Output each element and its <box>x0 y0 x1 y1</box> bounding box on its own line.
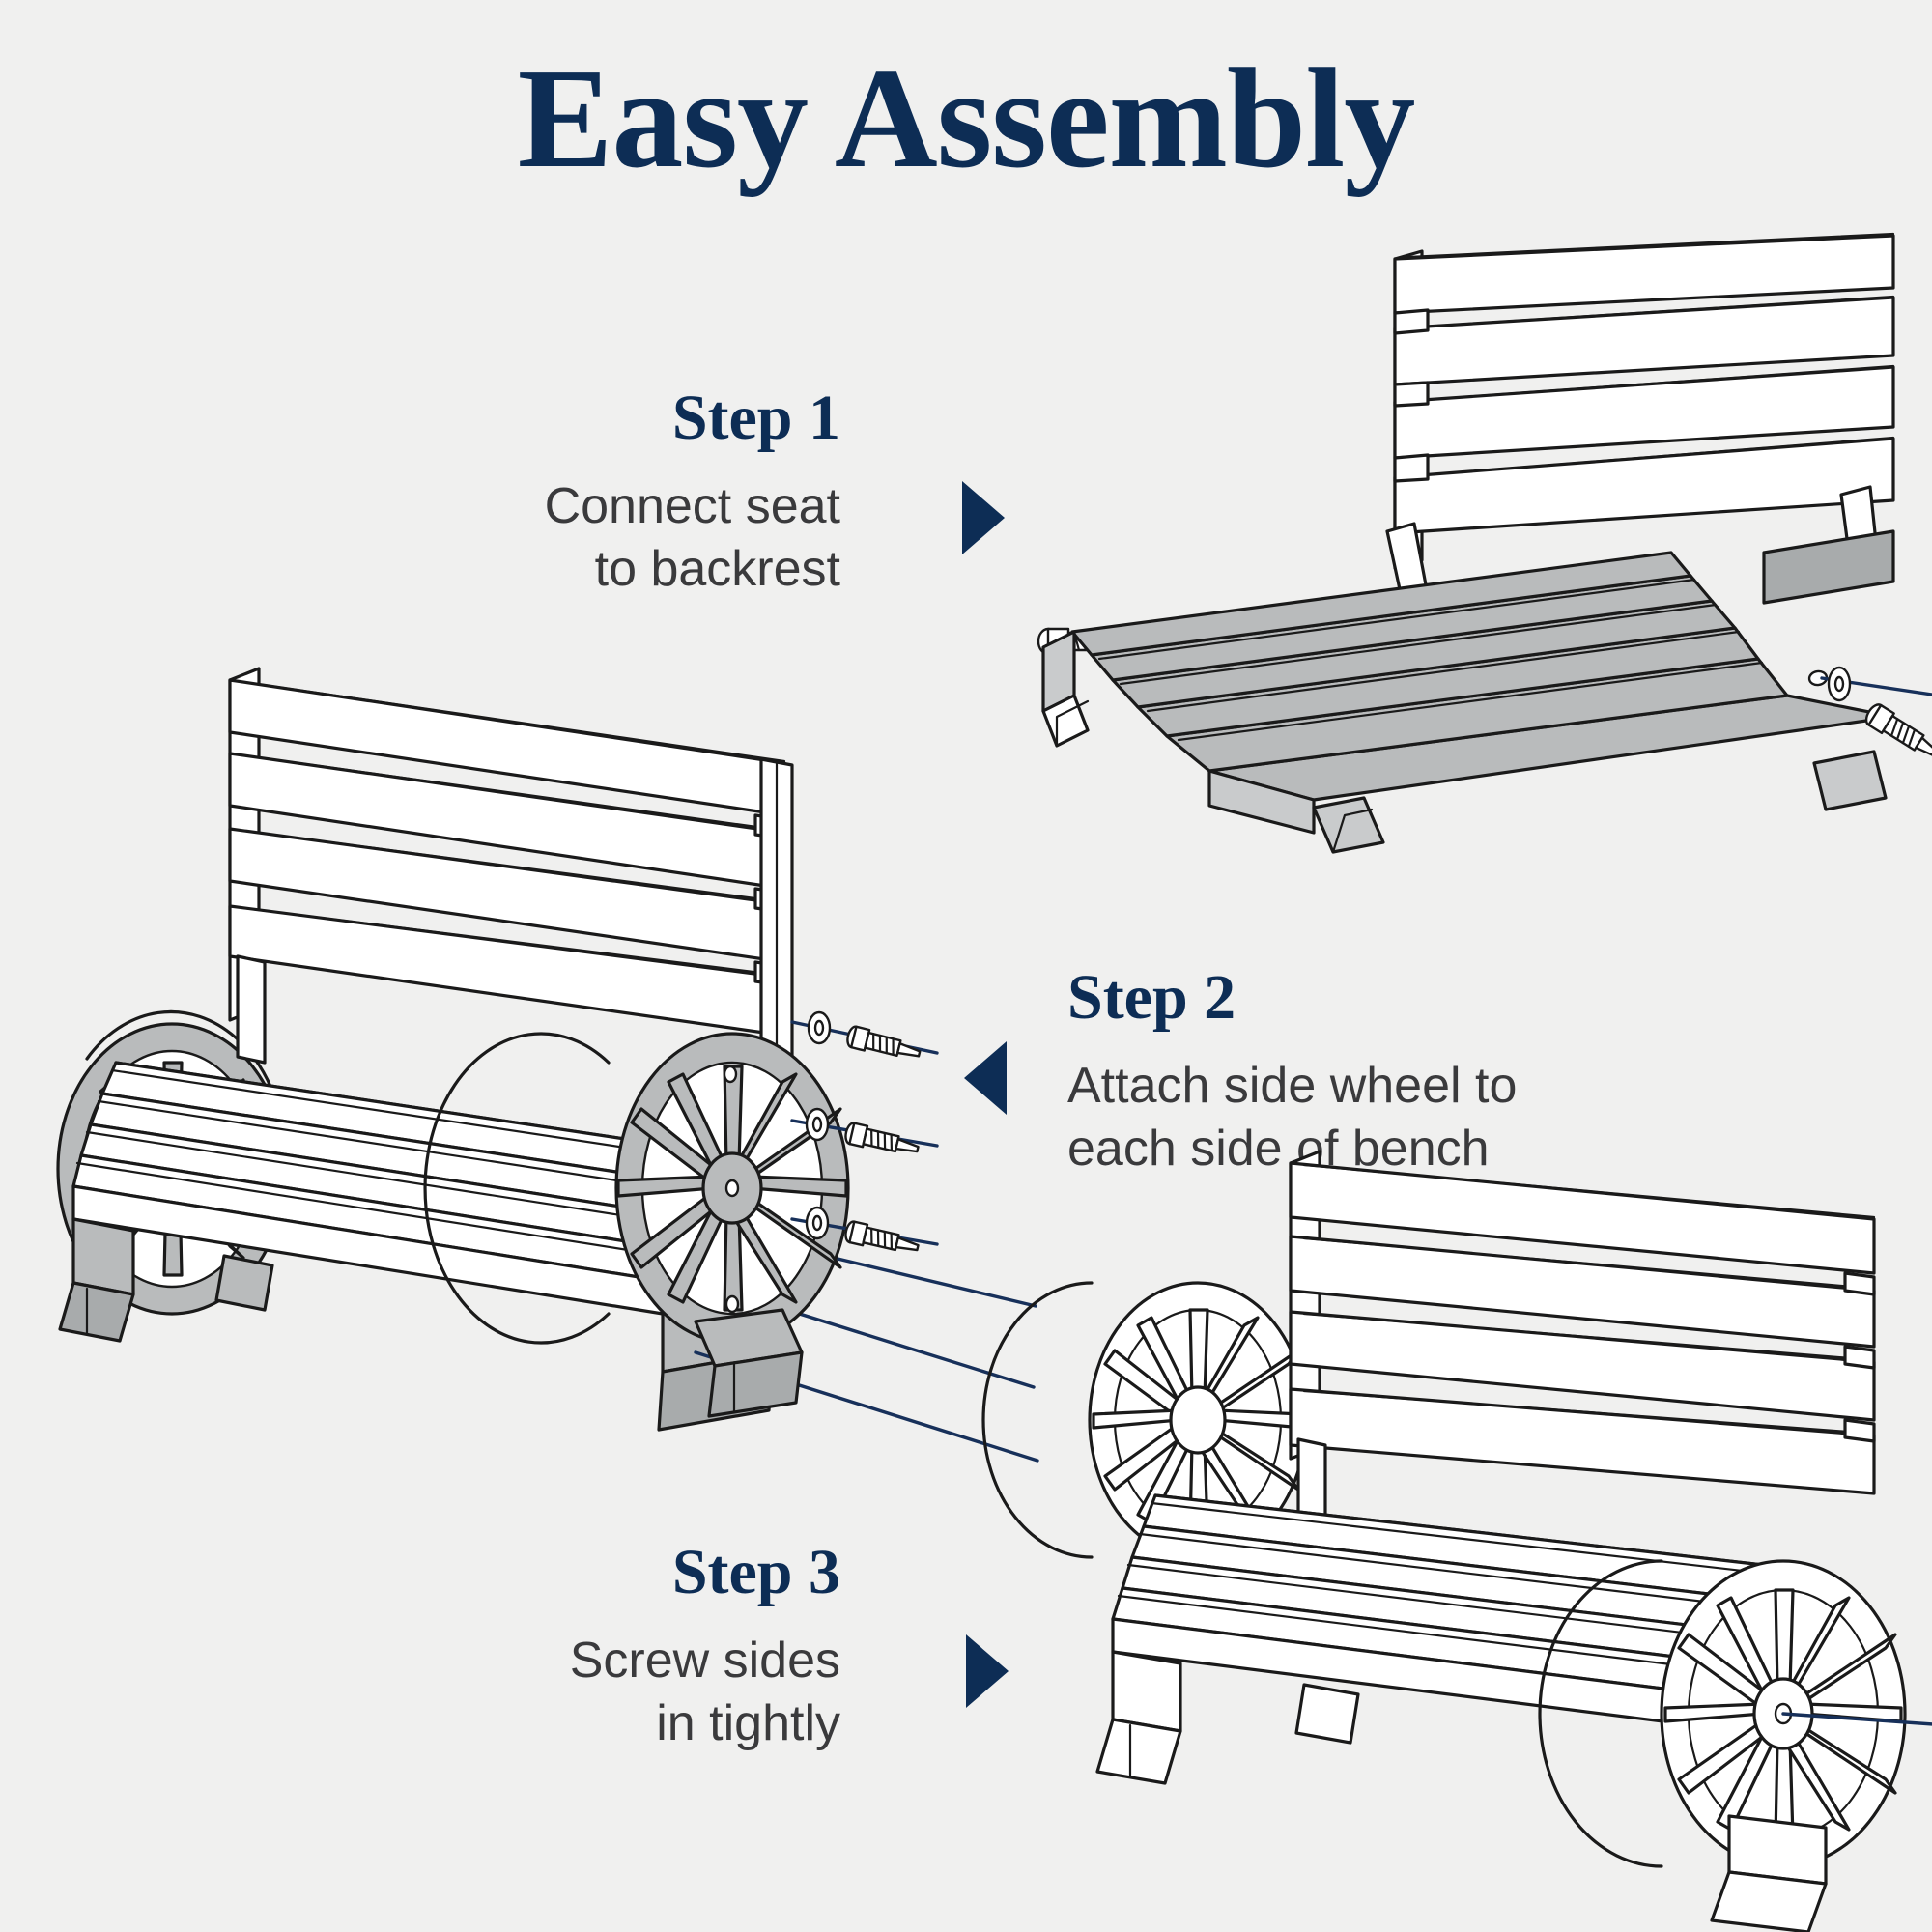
washer-part <box>809 1012 830 1043</box>
screw-part <box>845 1025 922 1064</box>
step-3-text-block: Step 3 Screw sides in tightly <box>415 1541 840 1755</box>
step-1-description: Connect seat to backrest <box>425 475 840 601</box>
step-3-illustration <box>1063 1333 1893 1913</box>
assembly-infographic: Easy Assembly Step 1 Connect seat to bac… <box>0 0 1932 1932</box>
seat-assembly <box>1043 531 1893 852</box>
arrow-right-icon <box>966 1634 1009 1708</box>
washer-part <box>1829 668 1850 700</box>
washer-part <box>807 1109 828 1140</box>
step-1-illustration <box>1024 241 1893 840</box>
backrest-assembly <box>1291 1151 1874 1522</box>
step-2-description: Attach side wheel to each side of bench <box>1067 1055 1608 1180</box>
step-1-washer-screw <box>1826 667 1932 792</box>
step-3-heading: Step 3 <box>415 1541 840 1605</box>
step-2-text-block: Step 2 Attach side wheel to each side of… <box>1067 966 1608 1180</box>
step-2-fasteners <box>792 985 1034 1314</box>
step-3-description: Screw sides in tightly <box>415 1630 840 1755</box>
arrow-right-icon <box>962 481 1005 554</box>
bench-leg-right <box>1712 1816 1826 1932</box>
screw-part <box>1862 701 1932 763</box>
page-title: Easy Assembly <box>0 44 1932 194</box>
step-1-text-block: Step 1 Connect seat to backrest <box>425 386 840 601</box>
washer-part <box>807 1207 828 1238</box>
step-1-heading: Step 1 <box>425 386 840 450</box>
step-2-heading: Step 2 <box>1067 966 1608 1030</box>
